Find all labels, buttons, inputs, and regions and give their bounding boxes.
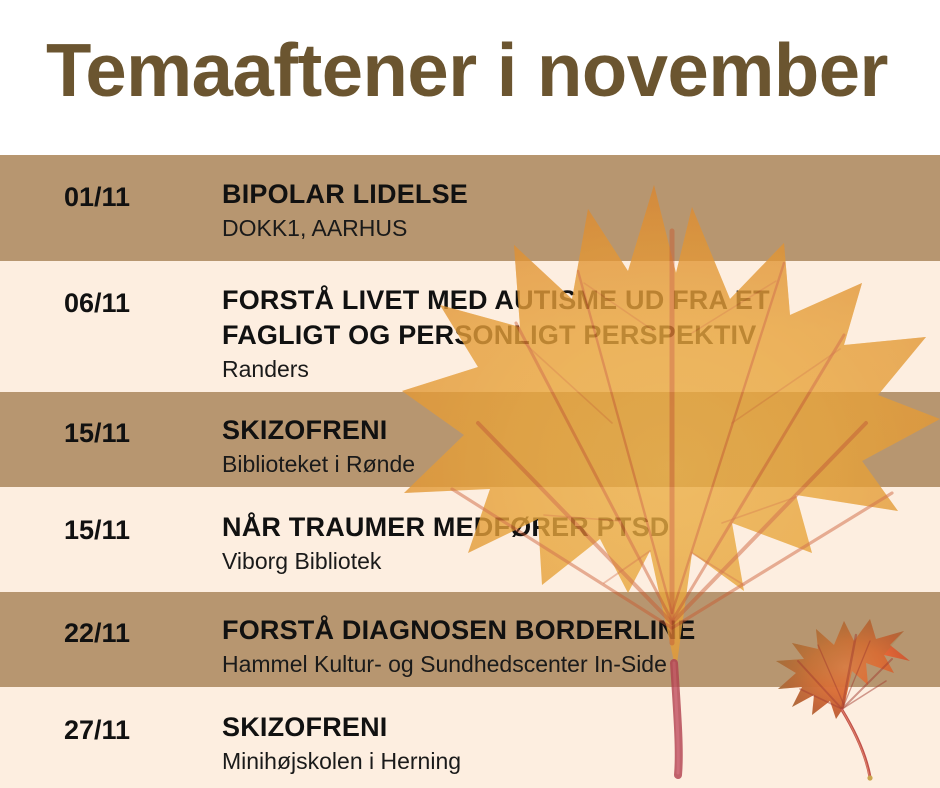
event-row: 15/11 SKIZOFRENI Biblioteket i Rønde	[0, 392, 940, 487]
event-details: SKIZOFRENI Minihøjskolen i Herning	[222, 710, 920, 777]
event-venue: Randers	[222, 354, 920, 385]
event-date: 22/11	[64, 616, 130, 650]
event-row: 06/11 FORSTÅ LIVET MED AUTISME UD FRA ET…	[0, 261, 940, 392]
event-venue: Biblioteket i Rønde	[222, 449, 920, 480]
event-details: NÅR TRAUMER MEDFØRER PTSD Viborg Bibliot…	[222, 510, 920, 577]
event-row: 27/11 SKIZOFRENI Minihøjskolen i Herning	[0, 687, 940, 788]
event-venue: Hammel Kultur- og Sundhedscenter In-Side	[222, 649, 920, 680]
event-row: 15/11 NÅR TRAUMER MEDFØRER PTSD Viborg B…	[0, 487, 940, 592]
event-details: FORSTÅ LIVET MED AUTISME UD FRA ET FAGLI…	[222, 283, 920, 385]
event-date: 27/11	[64, 713, 130, 747]
event-title: SKIZOFRENI	[222, 710, 920, 745]
event-date: 01/11	[64, 180, 130, 214]
event-venue: DOKK1, AARHUS	[222, 213, 920, 244]
event-details: BIPOLAR LIDELSE DOKK1, AARHUS	[222, 177, 920, 244]
event-title: FORSTÅ DIAGNOSEN BORDERLINE	[222, 613, 920, 648]
event-venue: Viborg Bibliotek	[222, 546, 920, 577]
event-date: 06/11	[64, 286, 130, 320]
event-date: 15/11	[64, 513, 130, 547]
event-title: FORSTÅ LIVET MED AUTISME UD FRA ET FAGLI…	[222, 283, 920, 353]
event-title: BIPOLAR LIDELSE	[222, 177, 920, 212]
event-title: SKIZOFRENI	[222, 413, 920, 448]
event-date: 15/11	[64, 416, 130, 450]
event-list: 01/11 BIPOLAR LIDELSE DOKK1, AARHUS 06/1…	[0, 155, 940, 788]
poster-canvas: Temaaftener i november 01/11 BIPOLAR LID…	[0, 0, 940, 788]
page-title: Temaaftener i november	[46, 24, 888, 116]
event-title: NÅR TRAUMER MEDFØRER PTSD	[222, 510, 920, 545]
event-row: 22/11 FORSTÅ DIAGNOSEN BORDERLINE Hammel…	[0, 592, 940, 687]
event-details: FORSTÅ DIAGNOSEN BORDERLINE Hammel Kultu…	[222, 613, 920, 680]
poster-header: Temaaftener i november	[0, 0, 940, 155]
event-details: SKIZOFRENI Biblioteket i Rønde	[222, 413, 920, 480]
event-venue: Minihøjskolen i Herning	[222, 746, 920, 777]
event-row: 01/11 BIPOLAR LIDELSE DOKK1, AARHUS	[0, 155, 940, 261]
